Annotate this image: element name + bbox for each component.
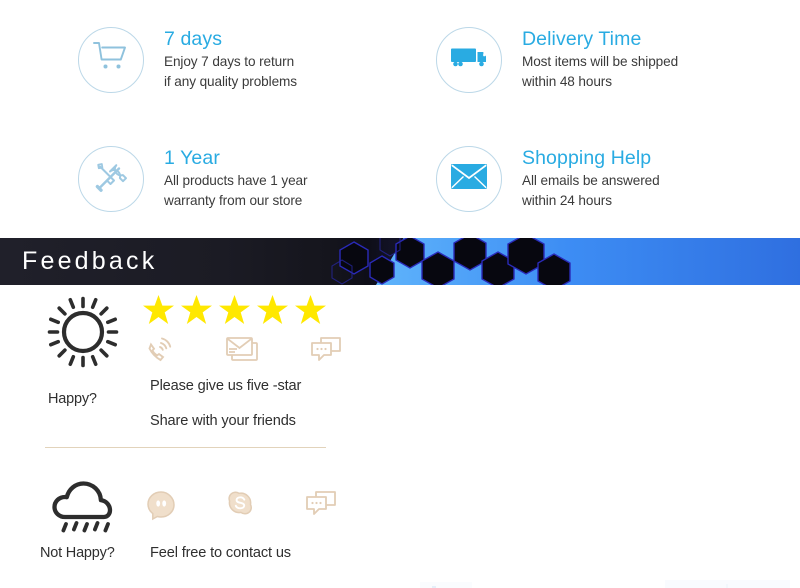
- mood-label-not-happy: Not Happy?: [40, 545, 115, 561]
- tools-warranty-icon: [92, 158, 130, 199]
- star-icon: [295, 294, 326, 325]
- service-line: Most items will be shipped: [522, 52, 678, 72]
- service-text: 7 days Enjoy 7 days to return if any qua…: [164, 28, 297, 92]
- service-badge: [78, 27, 144, 93]
- service-badge: [78, 146, 144, 212]
- service-line: warranty from our store: [164, 191, 307, 211]
- star-icon: [143, 294, 174, 325]
- service-line: Enjoy 7 days to return: [164, 52, 297, 72]
- service-title: 1 Year: [164, 147, 307, 169]
- chat-bubbles-icon[interactable]: [310, 335, 343, 364]
- feedback-message: Share with your friends: [150, 413, 296, 429]
- envelope-mail-icon[interactable]: [225, 335, 259, 363]
- service-highlights: 7 days Enjoy 7 days to return if any qua…: [0, 0, 800, 238]
- feedback-banner: Feedback: [0, 238, 800, 285]
- sun-icon: [46, 295, 120, 374]
- feedback-body: Happy?: [0, 285, 800, 588]
- service-item-warranty: 1 Year All products have 1 year warranty…: [0, 119, 400, 238]
- service-line: All products have 1 year: [164, 171, 307, 191]
- mood-label-happy: Happy?: [48, 391, 97, 407]
- service-line: All emails be answered: [522, 171, 660, 191]
- service-item-help: Shopping Help All emails be answered wit…: [400, 119, 800, 238]
- promo-page: 7 days Enjoy 7 days to return if any qua…: [0, 0, 800, 588]
- team-collaboration-illustration: [365, 570, 800, 588]
- contact-icons-happy: [144, 335, 343, 365]
- hexagon-pattern: [330, 238, 600, 285]
- star-rating: [143, 294, 326, 325]
- chat-bubbles-icon[interactable]: [305, 489, 338, 518]
- service-line: if any quality problems: [164, 72, 297, 92]
- feedback-message: Please give us five -star: [150, 378, 301, 394]
- service-text: Shopping Help All emails be answered wit…: [522, 147, 660, 211]
- star-icon: [257, 294, 288, 325]
- banner-title: Feedback: [22, 238, 157, 285]
- service-line: within 24 hours: [522, 191, 660, 211]
- delivery-truck-icon: [449, 43, 489, 76]
- phone-ring-icon[interactable]: [144, 335, 174, 365]
- service-item-return: 7 days Enjoy 7 days to return if any qua…: [0, 0, 400, 119]
- rain-cloud-icon: [48, 477, 124, 544]
- service-badge: [436, 27, 502, 93]
- service-text: 1 Year All products have 1 year warranty…: [164, 147, 307, 211]
- star-icon: [219, 294, 250, 325]
- skype-icon[interactable]: [225, 489, 257, 519]
- service-text: Delivery Time Most items will be shipped…: [522, 28, 678, 92]
- service-title: 7 days: [164, 28, 297, 50]
- service-line: within 48 hours: [522, 72, 678, 92]
- service-title: Shopping Help: [522, 147, 660, 169]
- feedback-left-column: Happy?: [0, 285, 370, 588]
- section-divider: [45, 447, 326, 448]
- service-title: Delivery Time: [522, 28, 678, 50]
- service-badge: [436, 146, 502, 212]
- feedback-message: Feel free to contact us: [150, 545, 291, 561]
- envelope-icon: [450, 163, 488, 195]
- contact-icons-not-happy: [145, 489, 338, 521]
- star-icon: [181, 294, 212, 325]
- shopping-cart-icon: [92, 40, 130, 79]
- messenger-icon[interactable]: [145, 489, 177, 521]
- service-item-delivery: Delivery Time Most items will be shipped…: [400, 0, 800, 119]
